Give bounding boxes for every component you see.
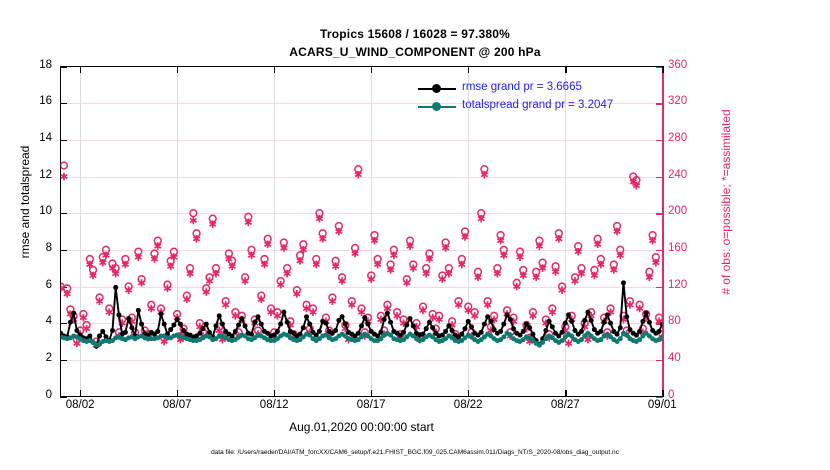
y-tick-right (656, 287, 663, 288)
grid-line-horizontal (61, 213, 662, 214)
x-tick-top (468, 66, 469, 73)
series-marker-totalspread (0, 334, 3, 339)
x-axis-label: Aug.01,2020 00:00:00 start (0, 420, 723, 434)
y-tick-label-left: 18 (12, 59, 52, 71)
obs-possible-marker (0, 267, 3, 274)
y-tick-label-left: 0 (12, 389, 52, 401)
data-file-footer: data file: /Users/raeder/DAI/ATM_forcXX/… (0, 449, 830, 456)
y-tick-left (60, 103, 67, 104)
x-tick-top (177, 66, 178, 73)
y-tick-label-right: 280 (668, 132, 708, 144)
x-tick-bottom (80, 390, 81, 397)
legend-label-rmse: rmse grand pr = 3.6665 (462, 81, 582, 93)
y-tick-label-right: 120 (668, 279, 708, 291)
grid-line-vertical (274, 67, 275, 396)
y-tick-left (60, 177, 67, 178)
figure-canvas: Tropics 15608 / 16028 = 97.380% ACARS_U_… (0, 0, 830, 470)
grid-line-horizontal (61, 250, 662, 251)
y-tick-label-right: 240 (668, 169, 708, 181)
y-tick-right (656, 213, 663, 214)
grid-line-horizontal (61, 177, 662, 178)
y-tick-right (656, 360, 663, 361)
y-tick-label-left: 4 (12, 315, 52, 327)
grid-line-horizontal (61, 140, 662, 141)
x-tick-bottom (177, 390, 178, 397)
grid-line-vertical (565, 67, 566, 396)
x-tick-top (371, 66, 372, 73)
grid-line-vertical (80, 67, 81, 396)
series-marker-rmse (0, 314, 3, 319)
y-axis-label-right: # of obs: o=possible; *=assimilated (719, 67, 733, 337)
y-tick-left (60, 287, 67, 288)
x-tick-bottom (662, 390, 663, 397)
x-tick-label: 08/12 (244, 399, 304, 411)
x-tick-top (80, 66, 81, 73)
grid-line-horizontal (61, 323, 662, 324)
y-tick-label-right: 160 (668, 242, 708, 254)
obs-possible-marker (0, 213, 3, 220)
y-tick-left (60, 360, 67, 361)
x-tick-bottom (274, 390, 275, 397)
x-tick-label: 08/22 (438, 399, 498, 411)
y-tick-right (656, 250, 663, 251)
x-tick-bottom (468, 390, 469, 397)
y-tick-right (656, 323, 663, 324)
grid-line-vertical (177, 67, 178, 396)
x-tick-bottom (565, 390, 566, 397)
x-tick-label: 08/07 (147, 399, 207, 411)
y-tick-right (656, 177, 663, 178)
x-tick-label: 09/01 (632, 399, 692, 411)
legend-marker-rmse (432, 84, 441, 93)
chart-title-line2: ACARS_U_WIND_COMPONENT @ 200 hPa (0, 45, 830, 59)
y-tick-left (60, 67, 67, 68)
y-tick-left (60, 140, 67, 141)
y-tick-left (60, 213, 67, 214)
y-tick-label-right: 80 (668, 315, 708, 327)
y-tick-right (656, 140, 663, 141)
x-tick-top (662, 66, 663, 73)
y-tick-label-left: 2 (12, 352, 52, 364)
chart-legend: rmse grand pr = 3.6665 totalspread grand… (418, 80, 658, 116)
obs-possible-marker (0, 307, 3, 314)
y-tick-label-right: 40 (668, 352, 708, 364)
grid-line-horizontal (61, 287, 662, 288)
grid-line-vertical (468, 67, 469, 396)
grid-line-vertical (371, 67, 372, 396)
obs-possible-marker (0, 389, 3, 396)
y-tick-left (60, 323, 67, 324)
y-tick-label-right: 320 (668, 95, 708, 107)
x-tick-label: 08/17 (341, 399, 401, 411)
x-tick-bottom (371, 390, 372, 397)
grid-line-horizontal (61, 360, 662, 361)
x-tick-label: 08/02 (50, 399, 110, 411)
x-tick-top (274, 66, 275, 73)
y-tick-label-right: 360 (668, 59, 708, 71)
legend-label-totalspread: totalspread grand pr = 3.2047 (462, 99, 613, 111)
y-tick-label-right: 200 (668, 205, 708, 217)
right-axis-line (662, 66, 664, 397)
y-axis-label-left: rmse and totalspread (18, 92, 32, 312)
y-tick-left (60, 397, 67, 398)
chart-title-line1: Tropics 15608 / 16028 = 97.380% (0, 27, 830, 41)
x-tick-top (565, 66, 566, 73)
x-tick-label: 08/27 (535, 399, 595, 411)
legend-marker-totalspread (432, 102, 441, 111)
y-tick-left (60, 250, 67, 251)
